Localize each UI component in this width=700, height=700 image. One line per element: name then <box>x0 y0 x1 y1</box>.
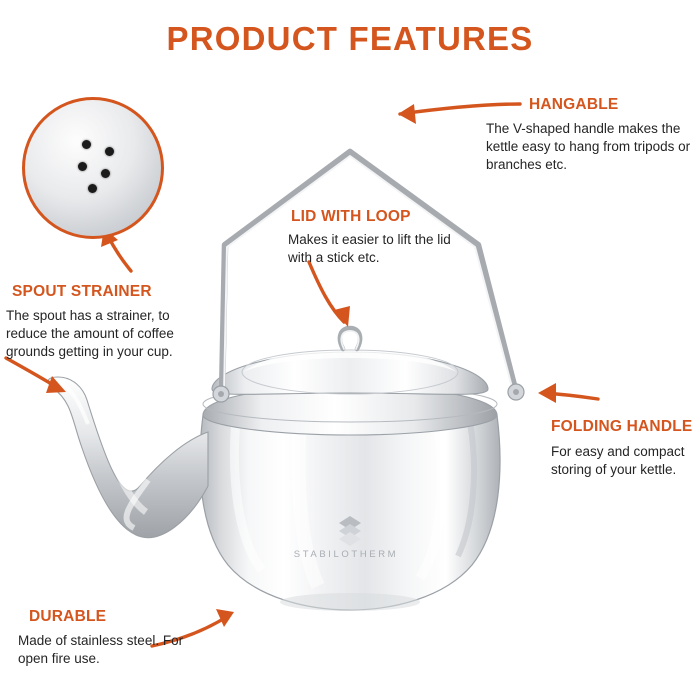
brand-logo-icon <box>333 513 367 547</box>
strainer-hole <box>105 147 114 156</box>
kettle-spout <box>48 377 208 538</box>
strainer-hole <box>88 184 97 193</box>
strainer-hole <box>78 162 87 171</box>
callout-body-durable: Made of stainless steel. For open fire u… <box>18 632 208 668</box>
arrow-lid-with-loop <box>309 262 350 327</box>
product-features-infographic: PRODUCT FEATURES <box>0 0 700 700</box>
arrow-folding-handle <box>538 383 598 403</box>
brand-name: STABILOTHERM <box>226 549 466 560</box>
callout-title-durable: DURABLE <box>29 608 106 626</box>
callout-title-folding-handle: FOLDING HANDLE <box>551 418 692 436</box>
callout-body-hangable: The V-shaped handle makes the kettle eas… <box>486 120 700 174</box>
strainer-hole <box>101 169 110 178</box>
callout-body-spout-strainer: The spout has a strainer, to reduce the … <box>6 307 206 361</box>
kettle-lid <box>212 328 488 394</box>
callout-body-folding-handle: For easy and compact storing of your ket… <box>551 443 700 479</box>
spout-strainer-closeup <box>22 97 164 239</box>
lid-loop-icon <box>340 328 360 349</box>
callout-title-hangable: HANGABLE <box>529 96 618 114</box>
strainer-hole <box>82 140 91 149</box>
callout-title-lid-with-loop: LID WITH LOOP <box>291 208 411 226</box>
arrow-spout <box>6 358 66 393</box>
callout-body-lid-with-loop: Makes it easier to lift the lid with a s… <box>288 231 468 267</box>
callout-title-spout-strainer: SPOUT STRAINER <box>12 283 152 301</box>
